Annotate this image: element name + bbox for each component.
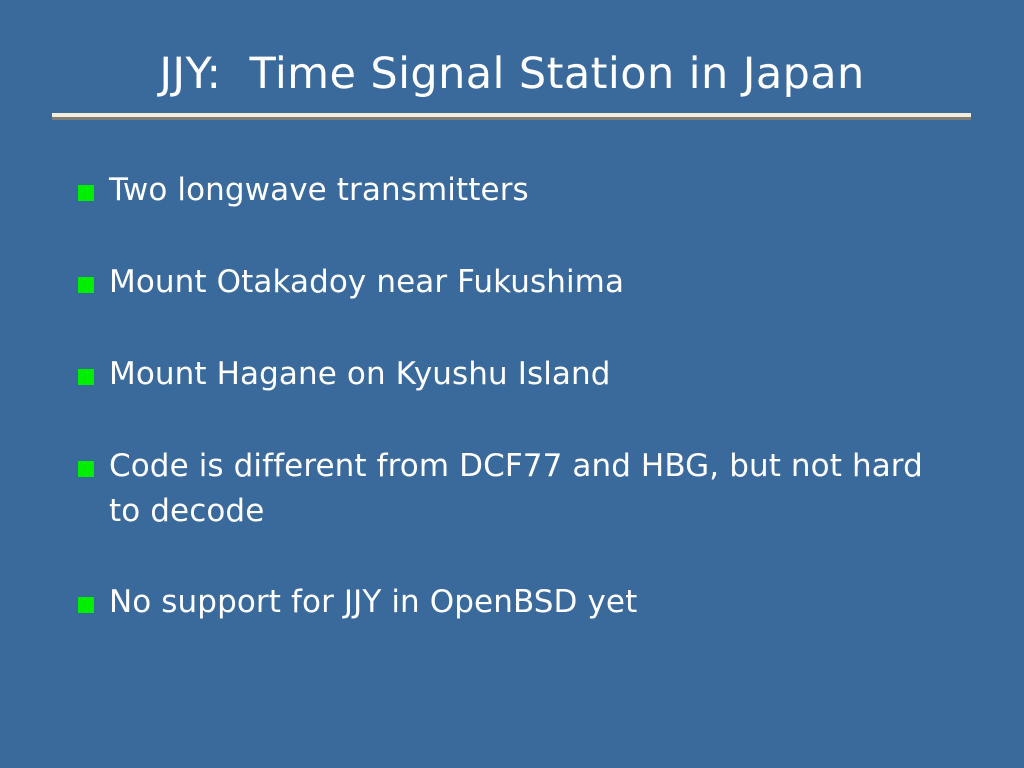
list-item: Two longwave transmitters <box>78 168 978 214</box>
list-item: No support for JJY in OpenBSD yet <box>78 580 978 626</box>
list-item-label: Mount Otakadoy near Fukushima <box>109 260 978 305</box>
page-title: JJY: Time Signal Station in Japan <box>0 48 1024 100</box>
list-item: Code is different from DCF77 and HBG, bu… <box>78 444 978 534</box>
presentation-slide: JJY: Time Signal Station in Japan Two lo… <box>0 0 1024 768</box>
square-bullet-icon <box>78 277 94 293</box>
square-bullet-icon <box>78 461 94 477</box>
list-item: Mount Otakadoy near Fukushima <box>78 260 978 306</box>
square-bullet-icon <box>78 369 94 385</box>
list-item: Mount Hagane on Kyushu Island <box>78 352 978 398</box>
slide-title-block: JJY: Time Signal Station in Japan <box>0 48 1024 100</box>
square-bullet-icon <box>78 185 94 201</box>
title-divider <box>52 113 971 120</box>
list-item-label: Code is different from DCF77 and HBG, bu… <box>109 444 978 534</box>
list-item-label: Two longwave transmitters <box>109 168 978 213</box>
list-item-label: No support for JJY in OpenBSD yet <box>109 580 978 625</box>
bullet-list: Two longwave transmitters Mount Otakadoy… <box>78 168 978 626</box>
list-item-label: Mount Hagane on Kyushu Island <box>109 352 978 397</box>
square-bullet-icon <box>78 597 94 613</box>
divider-shadow-line <box>52 117 971 120</box>
